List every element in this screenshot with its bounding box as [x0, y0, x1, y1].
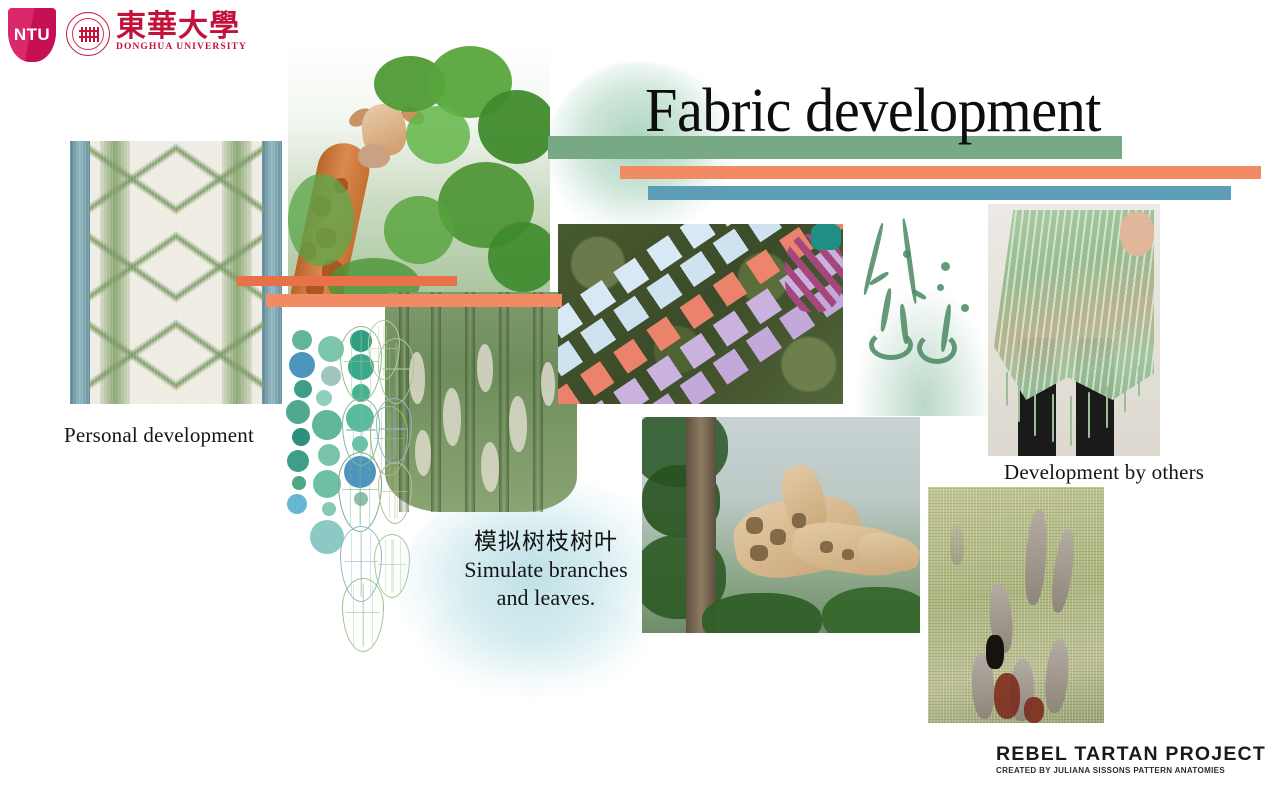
image-green-sketch	[855, 204, 993, 416]
swatch-texture	[70, 141, 282, 404]
donghua-seal-icon	[66, 12, 110, 56]
image-giraffe-pair	[642, 417, 920, 633]
donghua-seal-glyph	[79, 25, 99, 45]
giraffe-muzzle	[358, 144, 390, 168]
caption-development-by-others: Development by others	[1004, 460, 1204, 485]
caption-simulate-en-line2: and leaves.	[455, 584, 637, 612]
image-colour-lattice	[558, 224, 843, 404]
accent-bar-orange-top	[620, 166, 1261, 179]
page-title: Fabric development	[645, 79, 1101, 143]
accent-bar-orange-left-a	[237, 276, 457, 286]
accent-bar-orange-left-b	[266, 294, 562, 307]
image-green-knit-sample	[385, 292, 577, 512]
donghua-wordmark: 東華大學 DONGHUA UNIVERSITY	[116, 10, 264, 58]
slide-canvas: NTU 東華大學 DONGHUA UNIVERSITY	[0, 0, 1269, 794]
caption-personal-development: Personal development	[64, 423, 254, 448]
image-texture-sample	[928, 487, 1104, 723]
caption-simulate-cn: 模拟树枝树叶	[455, 528, 637, 556]
caption-simulate-en-line1: Simulate branches	[455, 556, 637, 584]
image-giraffe-leaves	[288, 46, 550, 301]
image-green-garment	[988, 204, 1160, 456]
giraffe-pair-tree	[686, 417, 716, 633]
footer-branding: REBEL TARTAN PROJECT CREATED BY JULIANA …	[996, 744, 1266, 776]
accent-bar-blue	[648, 186, 1231, 200]
caption-simulate-branches: 模拟树枝树叶 Simulate branches and leaves.	[455, 528, 637, 612]
image-green-lattice-swatch	[70, 141, 282, 404]
garment-hand	[1120, 212, 1154, 256]
footer-credit: CREATED BY JULIANA SISSONS PATTERN ANATO…	[996, 765, 1266, 776]
ntu-logo: NTU	[8, 8, 56, 62]
donghua-name-cn: 東華大學	[116, 10, 264, 44]
donghua-name-en: DONGHUA UNIVERSITY	[116, 42, 264, 52]
footer-project-name: REBEL TARTAN PROJECT	[996, 744, 1266, 765]
ntu-logo-label: NTU	[14, 25, 50, 45]
